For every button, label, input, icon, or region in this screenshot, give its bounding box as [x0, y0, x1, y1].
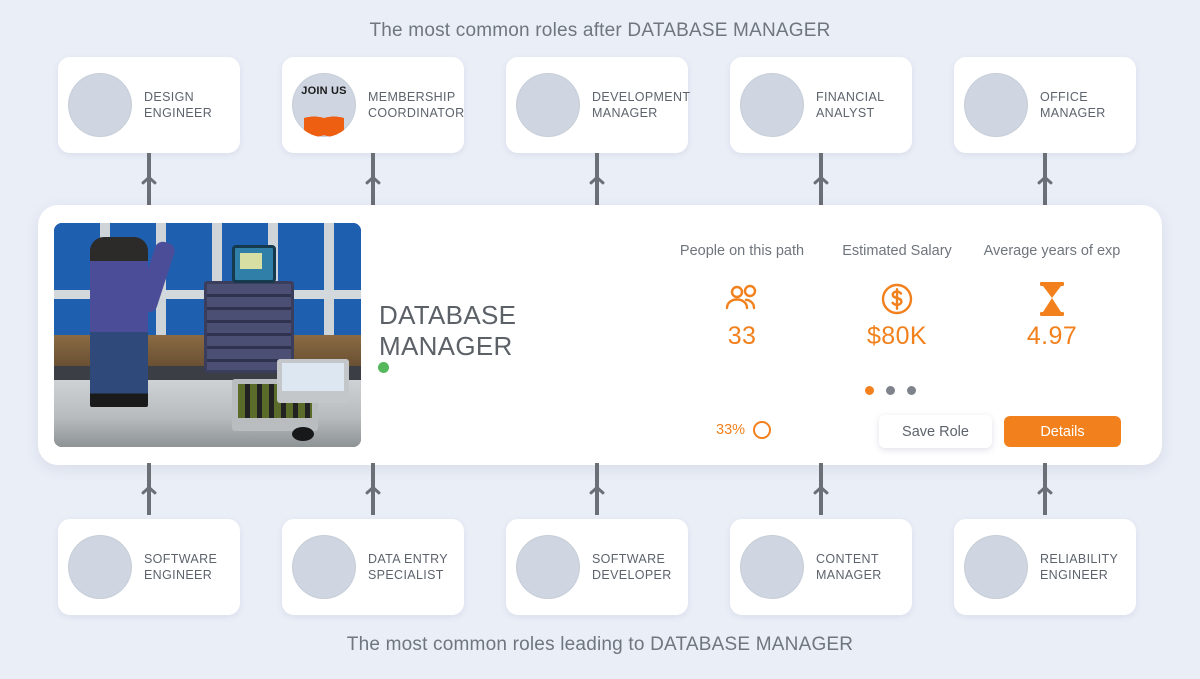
role-card-label: MEMBERSHIP COORDINATOR [368, 89, 464, 121]
pager-dot-1[interactable] [865, 386, 874, 395]
arrow-up-icon-1 [147, 153, 151, 205]
role-card-next-2[interactable]: MEMBERSHIP COORDINATOR [282, 57, 464, 153]
data-entry-specialist-photo [292, 535, 356, 599]
role-card-prev-4[interactable]: CONTENT MANAGER [730, 519, 912, 615]
role-card-label: SOFTWARE DEVELOPER [592, 551, 672, 583]
role-card-prev-3[interactable]: SOFTWARE DEVELOPER [506, 519, 688, 615]
arrow-up-icon-3 [595, 153, 599, 205]
role-card-label: SOFTWARE ENGINEER [144, 551, 217, 583]
technician-working-on-server-rack-photo [54, 223, 361, 447]
role-card-next-3[interactable]: DEVELOPMENT MANAGER [506, 57, 688, 153]
carousel-pager[interactable] [865, 386, 916, 395]
match-progress: 33% [716, 421, 771, 439]
software-engineer-photo [68, 535, 132, 599]
status-badge [378, 362, 389, 373]
reliability-engineer-photo [964, 535, 1028, 599]
role-card-next-1[interactable]: DESIGN ENGINEER [58, 57, 240, 153]
stat-people-on-this-path: People on this path 33 [652, 243, 832, 351]
progress-ring-icon [753, 421, 771, 439]
role-card-next-4[interactable]: FINANCIAL ANALYST [730, 57, 912, 153]
current-role-title: DATABASE MANAGER [379, 300, 516, 362]
arrow-up-icon-9 [819, 463, 823, 515]
role-card-next-5[interactable]: OFFICE MANAGER [954, 57, 1136, 153]
stat-label: People on this path [652, 243, 832, 259]
match-progress-value: 33% [716, 422, 745, 438]
people-icon [652, 278, 832, 320]
role-card-prev-5[interactable]: RELIABILITY ENGINEER [954, 519, 1136, 615]
dollar-circle-icon [807, 278, 987, 320]
pager-dot-3[interactable] [907, 386, 916, 395]
role-card-label: DATA ENTRY SPECIALIST [368, 551, 448, 583]
arrow-up-icon-4 [819, 153, 823, 205]
details-button[interactable]: Details [1004, 416, 1121, 447]
arrow-up-icon-2 [371, 153, 375, 205]
arrow-up-icon-10 [1043, 463, 1047, 515]
save-role-button[interactable]: Save Role [879, 415, 992, 448]
stat-value: 33 [652, 322, 832, 351]
role-card-label: DEVELOPMENT MANAGER [592, 89, 690, 121]
content-manager-photo [740, 535, 804, 599]
hourglass-icon [962, 278, 1142, 320]
page-title-previous-roles: The most common roles leading to DATABAS… [0, 634, 1200, 656]
previous-roles-row: SOFTWARE ENGINEER DATA ENTRY SPECIALIST … [0, 519, 1200, 615]
arrow-up-icon-6 [147, 463, 151, 515]
career-path-screen: The most common roles after DATABASE MAN… [0, 0, 1200, 679]
financial-analyst-photo [740, 73, 804, 137]
pager-dot-2[interactable] [886, 386, 895, 395]
stat-label: Estimated Salary [807, 243, 987, 259]
role-card-label: DESIGN ENGINEER [144, 89, 212, 121]
next-roles-row: DESIGN ENGINEER MEMBERSHIP COORDINATOR D… [0, 57, 1200, 153]
role-card-label: OFFICE MANAGER [1040, 89, 1106, 121]
stat-estimated-salary: Estimated Salary $80K [807, 243, 987, 351]
design-engineer-photo [68, 73, 132, 137]
role-card-label: CONTENT MANAGER [816, 551, 882, 583]
stat-label: Average years of exp [962, 243, 1142, 259]
software-developer-photo [516, 535, 580, 599]
arrow-up-icon-5 [1043, 153, 1047, 205]
office-manager-photo [964, 73, 1028, 137]
stat-value: $80K [807, 322, 987, 351]
arrow-up-icon-7 [371, 463, 375, 515]
membership-coordinator-photo [292, 73, 356, 137]
role-card-label: FINANCIAL ANALYST [816, 89, 884, 121]
arrow-up-icon-8 [595, 463, 599, 515]
page-title-next-roles: The most common roles after DATABASE MAN… [0, 20, 1200, 42]
role-card-prev-1[interactable]: SOFTWARE ENGINEER [58, 519, 240, 615]
role-card-label: RELIABILITY ENGINEER [1040, 551, 1118, 583]
stat-value: 4.97 [962, 322, 1142, 351]
stat-average-years-of-exp: Average years of exp 4.97 [962, 243, 1142, 351]
role-card-prev-2[interactable]: DATA ENTRY SPECIALIST [282, 519, 464, 615]
development-manager-photo [516, 73, 580, 137]
